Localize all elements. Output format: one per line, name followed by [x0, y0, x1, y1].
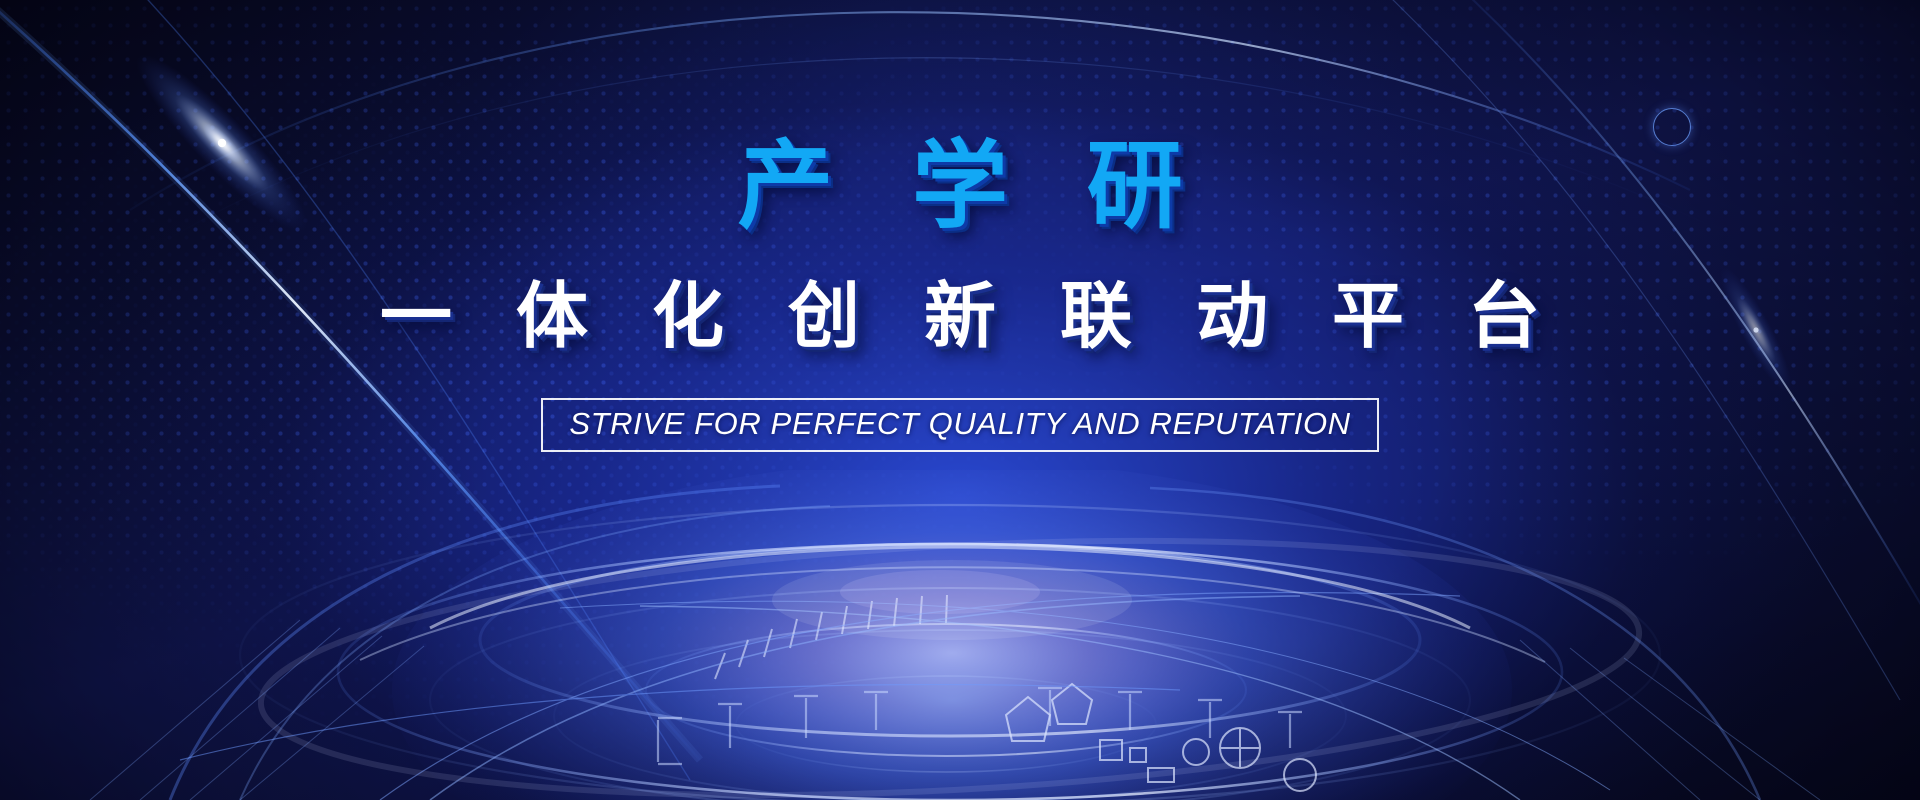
banner-content: 产 学 研 一 体 化 创 新 联 动 平 台 STRIVE FOR PERFE… [0, 138, 1920, 452]
subtitle-wrapper: STRIVE FOR PERFECT QUALITY AND REPUTATIO… [0, 398, 1920, 452]
tech-banner: 产 学 研 一 体 化 创 新 联 动 平 台 STRIVE FOR PERFE… [0, 0, 1920, 800]
page-title: 产 学 研 [0, 138, 1920, 236]
page-subtitle-en: STRIVE FOR PERFECT QUALITY AND REPUTATIO… [541, 398, 1378, 452]
page-subtitle-cn: 一 体 化 创 新 联 动 平 台 [0, 280, 1920, 356]
